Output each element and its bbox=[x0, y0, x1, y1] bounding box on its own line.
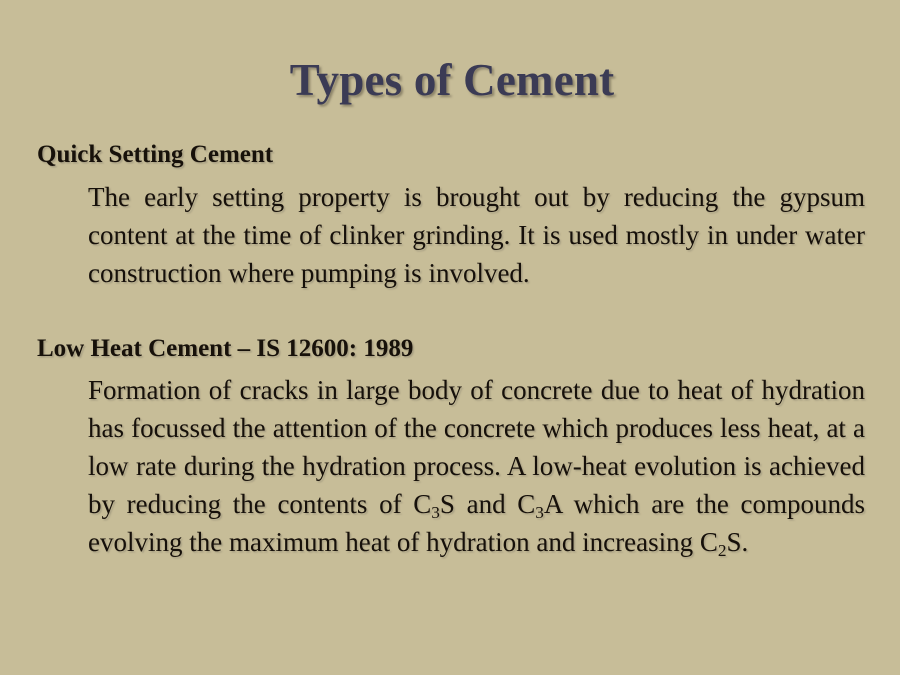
section-body-low-heat-cement: Formation of cracks in large body of con… bbox=[37, 371, 865, 561]
section-low-heat-cement: Low Heat Cement – IS 12600: 1989 Formati… bbox=[37, 334, 865, 562]
section-quick-setting-cement: Quick Setting Cement The early setting p… bbox=[37, 140, 865, 292]
subscript-c2s: 2 bbox=[718, 541, 727, 560]
body-text-segment-2: S and C bbox=[440, 489, 535, 519]
slide-content: Quick Setting Cement The early setting p… bbox=[37, 140, 865, 561]
body-text-segment-4: S. bbox=[727, 527, 749, 557]
slide-title: Types of Cement bbox=[0, 57, 900, 104]
subscript-c3s: 3 bbox=[431, 503, 440, 522]
section-body-quick-setting-cement: The early setting property is brought ou… bbox=[37, 178, 865, 292]
subscript-c3a: 3 bbox=[535, 503, 544, 522]
slide: Types of Cement Quick Setting Cement The… bbox=[0, 0, 900, 675]
section-heading-quick-setting-cement: Quick Setting Cement bbox=[37, 140, 865, 171]
section-heading-low-heat-cement: Low Heat Cement – IS 12600: 1989 bbox=[37, 334, 865, 365]
